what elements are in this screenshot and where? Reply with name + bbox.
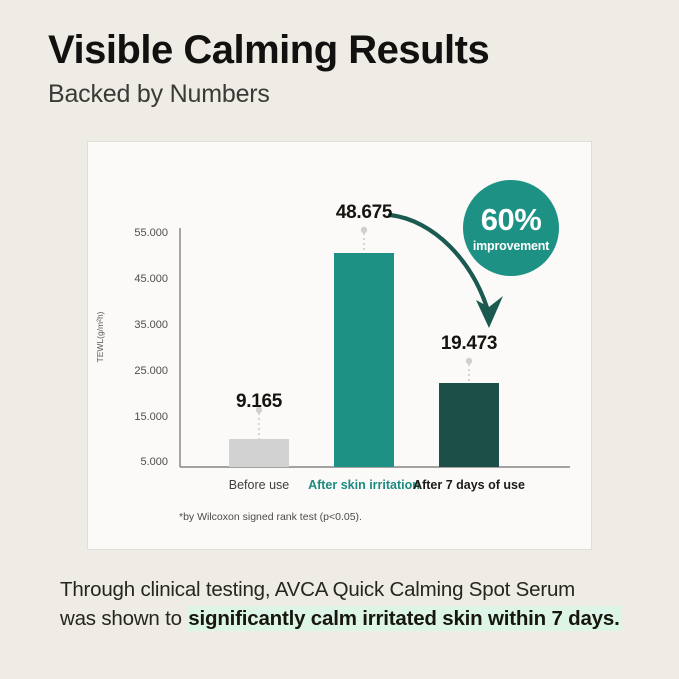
caption-line-1: Through clinical testing, AVCA Quick Cal… (60, 575, 670, 604)
y-tick-label-25000: 25.000 (110, 365, 168, 377)
caption-line-2: was shown to significantly calm irritate… (60, 604, 670, 633)
value-label-bar-3: 19.473 (409, 333, 529, 355)
page-title: Visible Calming Results (48, 28, 638, 73)
improvement-badge: 60% improvement (463, 180, 559, 276)
category-label-after-skin-irritation: After skin irritation (304, 478, 424, 492)
summary-caption: Through clinical testing, AVCA Quick Cal… (60, 575, 670, 633)
category-label-before-use: Before use (199, 478, 319, 492)
y-tick-label-15000: 15.000 (110, 411, 168, 423)
chart-footnote: *by Wilcoxon signed rank test (p<0.05). (179, 511, 362, 523)
caption-plain-text: was shown to (60, 607, 187, 630)
y-tick-label-5000: 5.000 (110, 456, 168, 468)
y-axis-title: TEWL(g/m²h) (95, 292, 105, 382)
value-label-bar-2: 48.675 (304, 202, 424, 224)
y-tick-label-45000: 45.000 (110, 273, 168, 285)
y-tick-label-35000: 35.000 (110, 319, 168, 331)
bar-before-use[interactable] (229, 439, 289, 467)
chart-plot-area: TEWL(g/m²h) 55.000 45.000 35.000 25.000 … (88, 142, 593, 551)
value-label-bar-1: 9.165 (199, 391, 319, 413)
caption-highlighted-text: significantly calm irritated skin within… (187, 606, 620, 631)
page-subtitle: Backed by Numbers (48, 79, 638, 109)
badge-percent-value: 60% (481, 204, 542, 235)
badge-improvement-label: improvement (473, 240, 549, 253)
bar-after-skin-irritation[interactable] (334, 253, 394, 467)
y-tick-label-55000: 55.000 (110, 227, 168, 239)
bar-after-7-days-of-use[interactable] (439, 383, 499, 467)
connector-dot-bar-3 (466, 358, 472, 364)
connector-dot-bar-2 (361, 227, 367, 233)
chart-card: TEWL(g/m²h) 55.000 45.000 35.000 25.000 … (87, 141, 592, 550)
category-label-after-7-days-of-use: After 7 days of use (409, 478, 529, 492)
page-header: Visible Calming Results Backed by Number… (48, 28, 638, 109)
